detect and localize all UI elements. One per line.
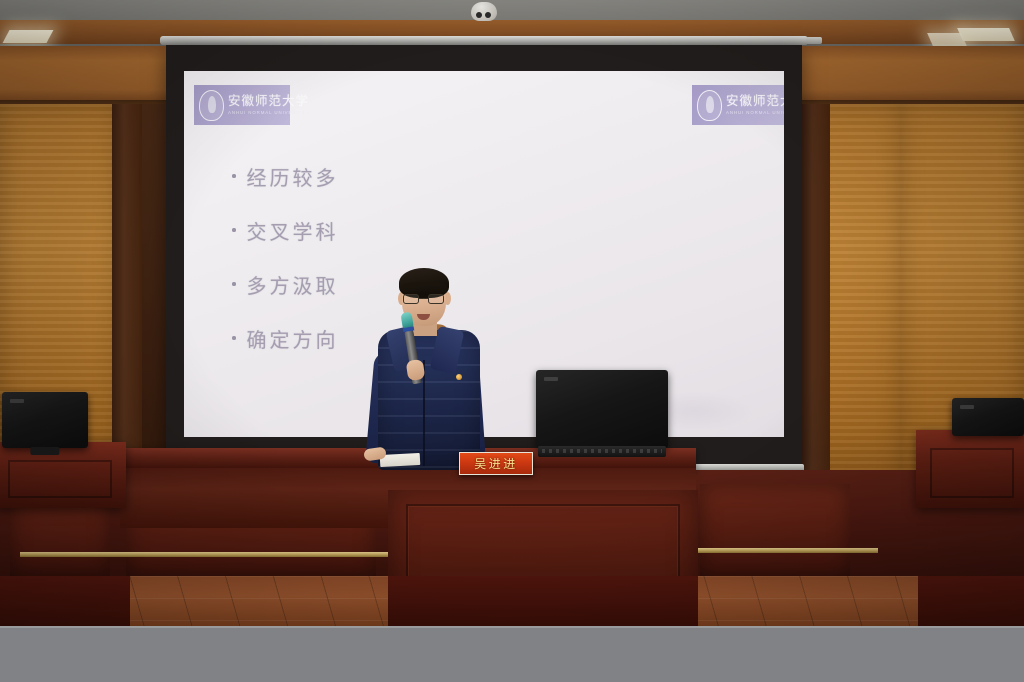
left-desk [0, 442, 126, 508]
slide-bullet-item: 确定方向 [232, 311, 339, 365]
monitor-brand-badge [960, 405, 974, 409]
floor-shadow-left [0, 576, 130, 626]
slide-bullet-text: 确定方向 [247, 324, 339, 353]
right-desk-panel [930, 448, 1014, 498]
camera-lens-right [485, 12, 491, 18]
slide-logo-right: 安徽师范大学 ANHUI NORMAL UNIVERSITY [692, 85, 784, 125]
bullet-dot-icon [232, 228, 236, 232]
slide-logo-right-text: 安徽师范大学 ANHUI NORMAL UNIVERSITY [726, 95, 784, 115]
dome-security-camera-icon [471, 2, 497, 21]
screen-roller-bar [160, 36, 808, 45]
glasses-lens-right [428, 294, 444, 304]
room: 安徽师范大学 ANHUI NORMAL UNIVERSITY 安徽师范大学 AN… [0, 0, 1024, 626]
monitor-brand-badge [544, 377, 558, 381]
slide-bullet-item: 多方汲取 [232, 257, 339, 311]
monitor-brand-badge [10, 399, 24, 403]
speaker-hand-holding-mic [406, 359, 426, 381]
wall-panel-gap-right [800, 104, 830, 504]
slide-bullet-item: 交叉学科 [232, 203, 339, 257]
slide-logo-left-cn: 安徽师范大学 [228, 95, 310, 108]
bottom-gray-bar-highlight [0, 626, 1024, 628]
stage-gold-trim-right [698, 548, 878, 553]
stage-panel-right [700, 484, 850, 576]
speaker-glasses-icon [403, 294, 445, 305]
speaker-person [360, 256, 495, 468]
slide-bullet-text: 多方汲取 [247, 270, 339, 299]
slide-bullet-text: 经历较多 [247, 162, 339, 191]
slide-bullet-list: 经历较多 交叉学科 多方汲取 确定方向 [232, 149, 339, 365]
slide-logo-right-en: ANHUI NORMAL UNIVERSITY [726, 111, 784, 115]
camera-lens-left [476, 12, 482, 18]
podium-keyboard[interactable] [538, 446, 666, 457]
slide-bullet-item: 经历较多 [232, 149, 339, 203]
right-desk-monitor[interactable] [952, 398, 1024, 436]
university-crest-icon [199, 90, 224, 121]
glasses-lens-left [403, 294, 419, 304]
glasses-bridge [419, 298, 428, 299]
podium-monitor[interactable] [536, 370, 668, 448]
floor-shadow-center [388, 576, 698, 626]
left-desk-panel [8, 460, 112, 498]
floor-shadow-right [918, 576, 1024, 626]
slide-logo-right-cn: 安徽师范大学 [726, 95, 784, 108]
bullet-dot-icon [232, 336, 236, 340]
screen-roller-end-cap [806, 37, 822, 44]
left-desk-monitor[interactable] [2, 392, 88, 448]
ceiling-light-panel-right [957, 28, 1015, 41]
slide-logo-left-en: ANHUI NORMAL UNIVERSITY [228, 111, 310, 115]
bullet-dot-icon [232, 282, 236, 286]
ceiling-light-panel-left [3, 30, 54, 43]
slide-logo-left-text: 安徽师范大学 ANHUI NORMAL UNIVERSITY [228, 95, 310, 115]
lecture-hall-photo: 安徽师范大学 ANHUI NORMAL UNIVERSITY 安徽师范大学 AN… [0, 0, 1024, 682]
bullet-dot-icon [232, 174, 236, 178]
speaker-nameplate: 吴进进 [459, 452, 533, 475]
monitor-stand [30, 447, 59, 455]
slide-logo-left: 安徽师范大学 ANHUI NORMAL UNIVERSITY [194, 85, 290, 125]
right-desk [916, 430, 1024, 508]
bottom-gray-bar [0, 626, 1024, 682]
ceiling-light-panel-right-2 [927, 33, 967, 46]
nameplate-text: 吴进进 [474, 455, 518, 472]
stage-gold-trim-left [20, 552, 392, 557]
slide-bullet-text: 交叉学科 [247, 216, 339, 245]
university-crest-icon [697, 90, 722, 121]
speaker-lapel-pin-icon [456, 374, 462, 380]
